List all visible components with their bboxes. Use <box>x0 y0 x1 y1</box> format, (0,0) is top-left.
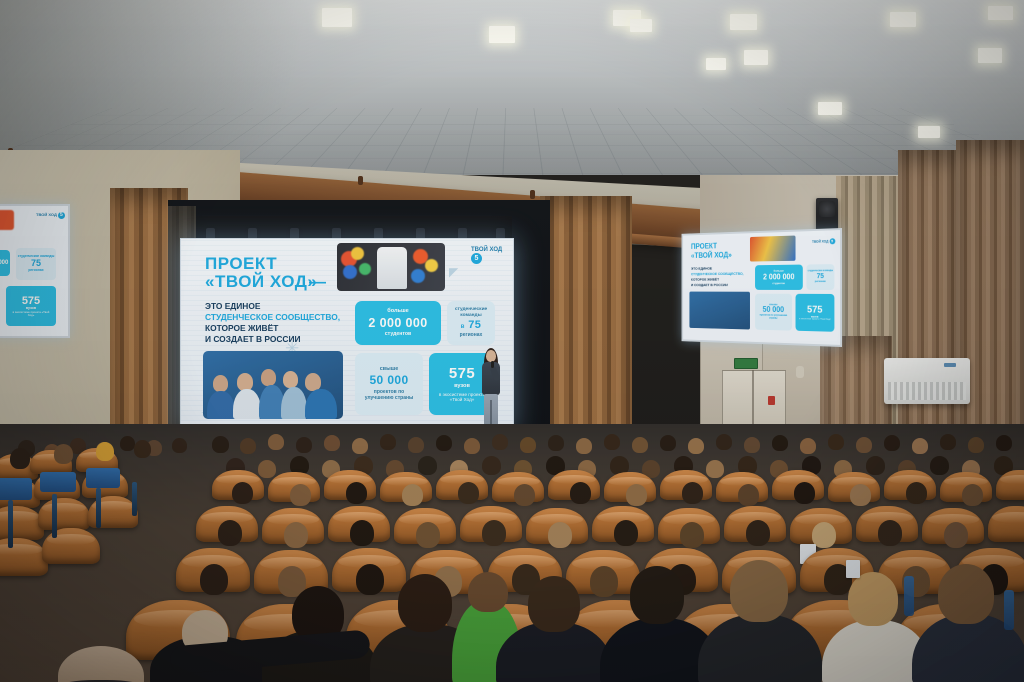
audience-head <box>96 442 114 461</box>
audience-head <box>290 484 311 506</box>
photo-hoodie <box>377 247 407 289</box>
slide-logo: ТВОЙ ХОД 5 <box>471 247 513 264</box>
beam-peg <box>358 176 363 185</box>
mini-merch-photo <box>750 236 796 262</box>
air-conditioner-vent <box>888 382 966 400</box>
audience-head <box>402 484 423 506</box>
audience-area <box>0 424 1024 682</box>
audience-head <box>716 434 732 450</box>
audience-head <box>54 444 73 464</box>
card-number: 75 <box>468 319 481 331</box>
audience-head <box>968 437 984 453</box>
mini-card-regions: студенческие команды 75 регионах <box>16 248 56 280</box>
right-curtain-b <box>956 140 1024 452</box>
monitor-right[interactable]: ПРОЕКТ «ТВОЙ ХОД» ЭТО ЕДИНОЕ СТУДЕНЧЕСКО… <box>682 228 842 347</box>
pa-speaker-right <box>816 198 838 232</box>
monitor-left[interactable]: ТВОЙ ХОД 5 2 000 000 студенческие команд… <box>0 204 70 338</box>
audience-head <box>884 435 900 451</box>
audience-head <box>630 566 684 624</box>
audience-head <box>940 434 956 450</box>
ceiling-light-panel <box>630 19 652 32</box>
slide-students-photo <box>203 351 343 419</box>
seat <box>988 506 1024 542</box>
card-value: 575 <box>449 365 475 382</box>
mini-card-regions: студенческие команды 75 регионах <box>806 264 834 290</box>
card-prefix: в <box>461 324 465 330</box>
audience-head <box>738 484 759 506</box>
photo-person-body <box>233 389 261 419</box>
ceiling <box>0 0 1024 175</box>
audience-head <box>548 435 564 451</box>
photo-blob <box>411 269 425 283</box>
audience-head <box>800 438 816 454</box>
seat-leg <box>132 482 137 516</box>
auditorium-scene: ПРОЕКТ «ТВОЙ ХОД» — ЭТО ЕДИНОЕ СТУДЕНЧЕС… <box>0 0 1024 682</box>
mini-logo-text: ТВОЙ ХОД <box>36 212 57 217</box>
card-top-label: свыше <box>380 366 398 372</box>
mini-logo-badge: 5 <box>58 212 65 219</box>
photo-person-body <box>281 387 307 419</box>
seat-left-block <box>38 498 90 530</box>
audience-head <box>482 456 501 475</box>
audience-head <box>878 520 902 546</box>
audience-head <box>570 482 591 504</box>
seat-left-block <box>42 528 100 564</box>
audience-head <box>482 520 506 546</box>
card-bottom-label: проектов по улучшению страны <box>355 390 423 402</box>
mini-card-students: 2 000 000 <box>0 250 10 276</box>
audience-head <box>746 520 770 546</box>
audience-head <box>436 435 452 451</box>
photo-person-head <box>261 369 276 386</box>
monitor-right-slide: ПРОЕКТ «ТВОЙ ХОД» ЭТО ЕДИНОЕ СТУДЕНЧЕСКО… <box>683 230 840 345</box>
audience-head <box>492 434 508 450</box>
mini-logo: ТВОЙ ХОД 5 <box>36 212 65 219</box>
audience-head <box>682 482 703 504</box>
audience-head <box>856 437 872 453</box>
audience-head <box>744 437 760 453</box>
audience-head <box>408 437 424 453</box>
audience-head <box>528 576 580 632</box>
handout-paper <box>846 560 860 578</box>
audience-head <box>730 560 788 622</box>
audience-head <box>514 484 535 506</box>
ceiling-light-panel <box>489 26 515 43</box>
mini-logo-badge: 5 <box>829 238 835 244</box>
audience-head <box>416 522 440 548</box>
audience-head <box>212 436 229 453</box>
ceiling-light-panel <box>322 8 352 27</box>
audience-head <box>380 434 396 450</box>
audience-head <box>350 520 374 546</box>
card-bottom-label: студентов <box>385 332 411 338</box>
audience-head <box>352 438 368 454</box>
audience-head <box>10 448 30 469</box>
photo-blob <box>351 247 364 260</box>
seat-back-cushion <box>904 576 914 616</box>
audience-head <box>866 456 885 475</box>
mini-card-students: больше 2 000 000 студентов <box>755 265 803 290</box>
mini-card-bottom: проектов по улучшению страны <box>755 315 792 321</box>
ceiling-light-panel <box>918 126 940 138</box>
slide-doodle-arrow: ◤ <box>449 265 458 279</box>
photo-person-head <box>283 371 298 388</box>
audience-head <box>688 438 704 454</box>
mini-sub-1: ЭТО ЕДИНОЕ <box>691 266 712 271</box>
audience-head <box>930 456 949 475</box>
audience-head <box>706 460 724 478</box>
mini-sub-3: КОТОРОЕ ЖИВЁТ <box>691 277 719 282</box>
audience-head <box>346 482 367 504</box>
audience-head <box>848 572 898 626</box>
audience-head <box>520 437 536 453</box>
audience-head <box>548 522 572 548</box>
mini-card-bottom: студентов <box>772 282 785 285</box>
audience-head <box>614 520 638 546</box>
card-value: в 75 <box>461 319 482 332</box>
audience-head <box>356 564 384 595</box>
photo-blob <box>359 263 371 275</box>
right-curtain-a <box>898 150 958 450</box>
mini-sub-2: СТУДЕНЧЕСКОЕ СООБЩЕСТВО, <box>691 271 744 276</box>
mini-card-projects: свыше 50 000 проектов по улучшению стран… <box>755 294 792 331</box>
audience-head <box>296 437 312 453</box>
mini-card-universities: 575 вузов в экосистеме проекта «Твой Ход… <box>796 294 835 332</box>
audience-head <box>680 522 704 548</box>
audience-head <box>660 435 676 451</box>
mini-logo: ТВОЙ ХОД 5 <box>812 238 835 245</box>
slide-card-regions: студенческие команды в 75 регионах <box>447 301 495 345</box>
audience-head <box>626 484 647 506</box>
mini-card-value: 2 000 000 <box>0 260 8 267</box>
audience-head <box>398 574 452 632</box>
photo-person-head <box>213 375 228 392</box>
slide-card-students: больше 2 000 000 студентов <box>355 301 441 345</box>
seat-back-cushion <box>0 478 32 500</box>
audience-head <box>576 438 592 454</box>
slide-subtitle-line3: КОТОРОЕ ЖИВЁТ <box>205 323 278 333</box>
seat-back-cushion <box>86 468 120 488</box>
mini-card-bottom: регионах <box>28 269 43 273</box>
audience-head <box>120 436 135 451</box>
card-bottom-label: вузов <box>454 383 470 389</box>
audience-head <box>240 438 256 454</box>
audience-head <box>828 434 844 450</box>
audience-head <box>590 566 618 597</box>
slide-title-dash: — <box>309 273 327 291</box>
card-top-label: больше <box>387 308 409 314</box>
audience-head <box>284 522 308 548</box>
main-presentation-screen[interactable]: ПРОЕКТ «ТВОЙ ХОД» — ЭТО ЕДИНОЕ СТУДЕНЧЕС… <box>180 238 514 432</box>
audience-head <box>218 520 242 546</box>
exit-sign <box>734 358 758 369</box>
microphone-icon <box>491 361 494 368</box>
audience-head <box>418 456 437 475</box>
audience-head <box>906 482 927 504</box>
audience-head <box>632 437 648 453</box>
ceiling-light-panel <box>706 58 726 70</box>
ceiling-light-panel <box>744 50 768 65</box>
card-bottom-label: регионах <box>460 333 483 339</box>
mini-card-universities: 575 вузов в экосистеме проекта «Твой Ход… <box>6 286 56 326</box>
photo-blob <box>425 259 438 272</box>
audience-head <box>258 460 276 478</box>
mini-card-note: в экосистеме проекта «Твой Ход» <box>796 318 833 321</box>
monitor-left-slide: ТВОЙ ХОД 5 2 000 000 студенческие команд… <box>0 206 68 336</box>
audience-head <box>172 438 187 453</box>
slide: ПРОЕКТ «ТВОЙ ХОД» — ЭТО ЕДИНОЕ СТУДЕНЧЕС… <box>181 239 513 431</box>
slide-title-line1: ПРОЕКТ <box>205 255 277 273</box>
mini-logo-text: ТВОЙ ХОД <box>812 239 828 243</box>
mini-card-note: в экосистеме проекта «Твой Ход» <box>6 311 56 317</box>
mini-card-bottom: регионах <box>815 281 826 284</box>
audience-head <box>938 564 994 624</box>
slide-subtitle-line1: ЭТО ЕДИНОЕ <box>205 301 260 311</box>
card-value: 50 000 <box>369 374 408 388</box>
audience-head <box>850 484 871 506</box>
audience-head <box>324 435 340 451</box>
ceiling-light-panel <box>890 12 916 27</box>
seat-leg <box>8 500 13 548</box>
mini-sub-4: И СОЗДАЕТ В РОССИИ <box>691 282 728 287</box>
seat-back-cushion <box>40 472 76 492</box>
audience-head <box>468 572 508 612</box>
audience-head <box>996 435 1012 451</box>
audience-head <box>200 564 228 595</box>
card-value: 2 000 000 <box>368 316 427 330</box>
photo-person-body <box>305 389 337 419</box>
presenter <box>478 350 504 435</box>
mini-students-photo <box>689 292 750 330</box>
audience-head <box>232 482 253 504</box>
slide-subtitle-line2: СТУДЕНЧЕСКОЕ СООБЩЕСТВО, <box>205 312 340 322</box>
photo-person-body <box>207 391 235 419</box>
audience-head <box>962 484 983 506</box>
audience-head <box>268 434 284 450</box>
beam-peg <box>530 190 535 199</box>
audience-head <box>464 438 480 454</box>
audience-head <box>458 482 479 504</box>
audience-head <box>944 522 968 548</box>
audience-head <box>134 440 151 458</box>
air-conditioner-display <box>944 363 956 367</box>
slide-card-projects: свыше 50 000 проектов по улучшению стран… <box>355 353 423 415</box>
ceiling-light-panel <box>978 48 1002 63</box>
photo-blob <box>343 265 357 279</box>
mini-title-2: «ТВОЙ ХОД» <box>691 251 732 260</box>
audience-head <box>794 482 815 504</box>
ceiling-light-panel <box>818 102 842 115</box>
card-top-label: студенческие команды <box>447 307 495 318</box>
ceiling-light-panel <box>730 14 757 30</box>
mini-title-1: ПРОЕКТ <box>691 242 717 251</box>
stage-curtain-right <box>540 196 632 446</box>
audience-head <box>912 438 928 454</box>
ceiling-light-panel <box>988 6 1013 20</box>
seat-leg <box>52 494 57 538</box>
slide-logo-badge: 5 <box>471 253 482 264</box>
audience-head <box>772 435 788 451</box>
mini-photo-blob <box>0 210 14 230</box>
wall-lamp-icon <box>796 366 804 378</box>
seat-leg <box>96 488 101 528</box>
fire-alarm-icon <box>768 396 775 405</box>
seat-back-cushion <box>1004 590 1014 630</box>
slide-title-line2: «ТВОЙ ХОД» <box>205 273 317 291</box>
audience-head <box>604 434 620 450</box>
slide-merch-photo <box>337 243 445 291</box>
